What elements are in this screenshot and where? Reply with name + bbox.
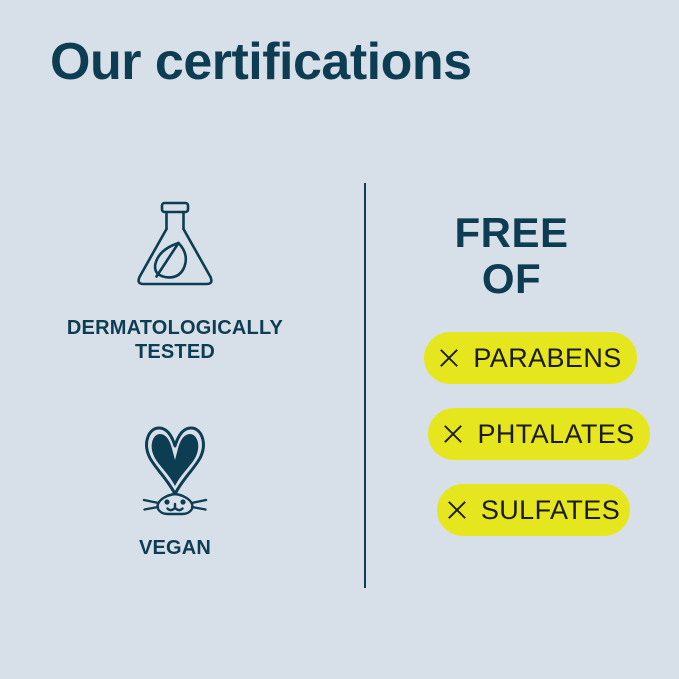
x-icon [443, 424, 463, 444]
certification-label: DERMATOLOGICALLY TESTED [0, 316, 350, 364]
free-of-column: FREE OF PARABENS PHTALATES [364, 180, 679, 600]
certification-label: VEGAN [0, 536, 350, 560]
certification-item-dermatologically-tested: DERMATOLOGICALLY TESTED [0, 196, 350, 364]
free-of-heading-line2: OF [364, 256, 659, 302]
badge-row: SULFATES [364, 484, 679, 560]
free-of-heading: FREE OF [364, 210, 659, 302]
badge-label: SULFATES [481, 495, 620, 526]
rabbit-eye-right [180, 499, 185, 504]
badge-label: PARABENS [473, 343, 621, 374]
certification-label-line2: TESTED [135, 341, 215, 363]
x-icon [447, 500, 467, 520]
certification-label-line1: VEGAN [139, 537, 211, 559]
rabbit-heart-ears-icon [123, 416, 227, 520]
certifications-column: DERMATOLOGICALLY TESTED [0, 180, 350, 600]
flask-leaf-icon [123, 196, 227, 296]
x-icon [439, 348, 459, 368]
free-of-badge-parabens[interactable]: PARABENS [424, 332, 637, 384]
free-of-badge-phtalates[interactable]: PHTALATES [428, 408, 650, 460]
page-title: Our certifications [50, 32, 472, 92]
badge-row: PARABENS [364, 332, 679, 408]
free-of-badge-list: PARABENS PHTALATES SULFATES [364, 332, 679, 560]
rabbit-eye-left [164, 499, 169, 504]
certification-item-vegan: VEGAN [0, 416, 350, 560]
free-of-badge-sulfates[interactable]: SULFATES [437, 484, 630, 536]
badge-row: PHTALATES [364, 408, 679, 484]
free-of-heading-line1: FREE [454, 209, 568, 256]
certification-label-line1: DERMATOLOGICALLY [67, 317, 283, 339]
certifications-infographic: Our certifications [0, 0, 679, 679]
badge-label: PHTALATES [477, 419, 634, 450]
